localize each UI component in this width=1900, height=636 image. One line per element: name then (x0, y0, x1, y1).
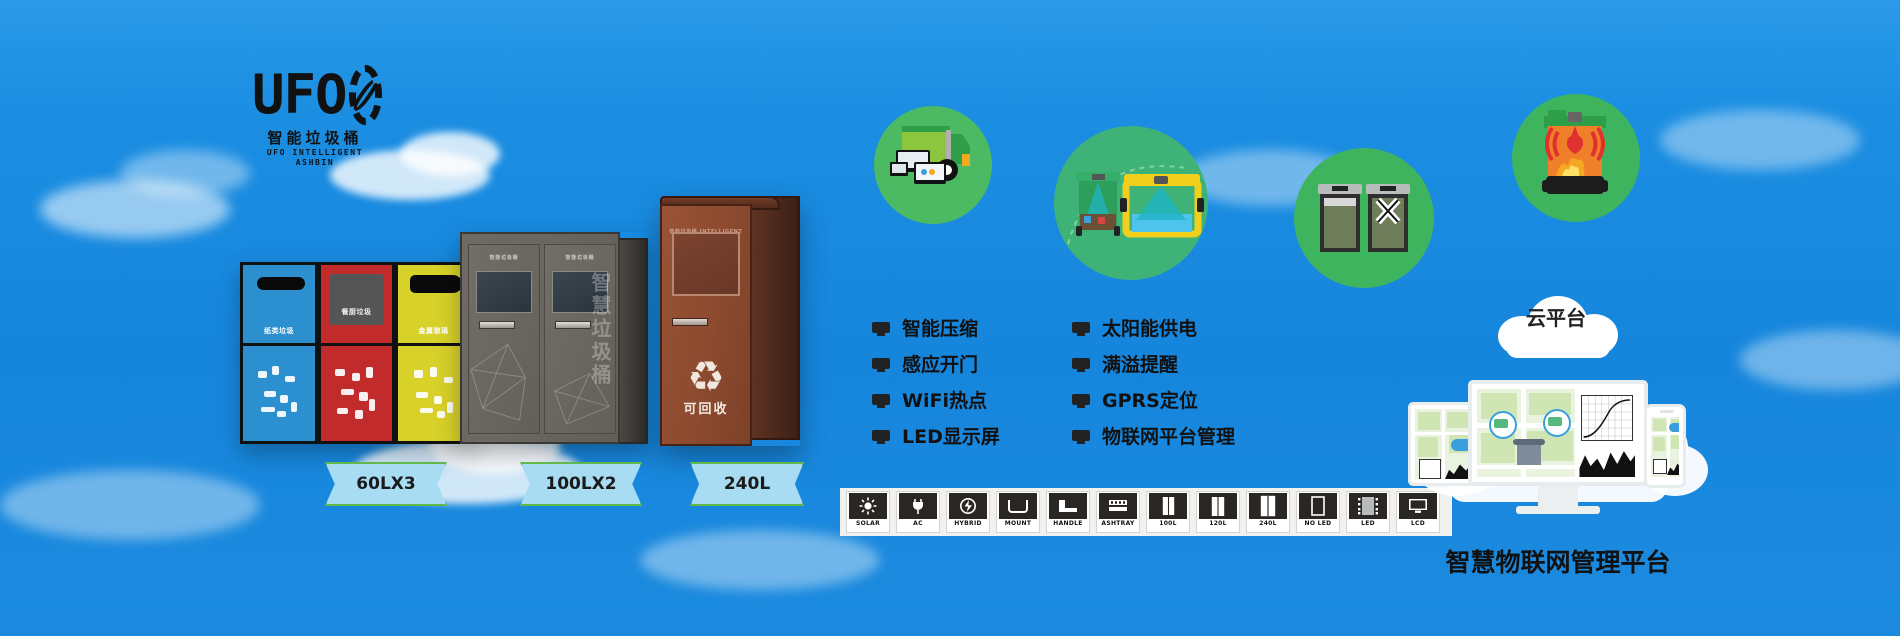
tablet-screen (1415, 409, 1473, 479)
brand-logo: UFO 智能垃圾桶 UFO INTELLIGENT ASHBIN (252, 62, 382, 162)
logo-wordmark: UFO (252, 68, 347, 122)
spec-chip-handle[interactable]: HANDLE (1046, 491, 1090, 533)
smartphone-device (1644, 404, 1686, 488)
recycle-label: 可回收 (662, 402, 750, 418)
spec-chip-hybrid[interactable]: HYBRID (946, 491, 990, 533)
capacity-ribbon-100lx2: 100LX2 (520, 462, 642, 506)
compartment-label: 餐厨垃圾 (321, 308, 392, 317)
feature-label: 智能压缩 (902, 318, 978, 340)
spec-caption: ASHTRAY (1101, 519, 1134, 529)
led-icon (1349, 493, 1387, 519)
cloud-platform-badge: 云平台 (1486, 292, 1626, 356)
bin-100l-icon (1149, 493, 1187, 519)
product-bin-60lx3: 纸类垃圾 餐厨垃圾 (240, 262, 472, 444)
feature-list: 智能压缩 太阳能供电 感应开门 满溢提醒 WiFi热点 GPRS定位 LED显示… (872, 318, 1302, 448)
monitor-icon (872, 322, 890, 336)
phone-screen (1651, 417, 1679, 477)
spec-caption: SOLAR (856, 519, 880, 529)
feature-label: WiFi热点 (902, 390, 987, 412)
bin-240l-icon (1249, 493, 1287, 519)
spec-chip-100l[interactable]: 100L (1146, 491, 1190, 533)
spec-chip-no-led[interactable]: NO LED (1296, 491, 1340, 533)
monitor-icon (1072, 430, 1090, 444)
feature-item: LED显示屏 (872, 426, 1072, 448)
spec-chip-led[interactable]: LED (1346, 491, 1390, 533)
logo-cn-name: 智能垃圾桶 (252, 130, 378, 147)
bin-120l-icon (1199, 493, 1237, 519)
feature-label: 太阳能供电 (1102, 318, 1197, 340)
sun-icon (849, 493, 887, 519)
bin-side-text: 智慧垃圾桶 (591, 272, 613, 387)
fire-alarm-icon (1512, 94, 1640, 222)
feature-label: LED显示屏 (902, 426, 1000, 448)
spec-caption: 240L (1259, 519, 1277, 529)
mount-icon (999, 493, 1037, 519)
platform-title: 智慧物联网管理平台 (1358, 548, 1758, 578)
bin-screen-caption: 智能垃圾桶 (545, 255, 615, 262)
spec-caption: LED (1361, 519, 1375, 529)
ribbon-label: 60LX3 (356, 474, 415, 494)
feature-item: WiFi热点 (872, 390, 1072, 412)
feature-item: 满溢提醒 (1072, 354, 1302, 376)
monitor-screen (1477, 389, 1639, 477)
monitor-icon (1072, 394, 1090, 408)
feature-label: 物联网平台管理 (1102, 426, 1235, 448)
feature-circle-fire-alarm (1512, 94, 1640, 222)
spec-caption: 120L (1209, 519, 1227, 529)
spec-icon-strip: SOLAR AC HYBRID MOUNT HAND (840, 488, 1452, 536)
ribbon-label: 100LX2 (545, 474, 616, 494)
banner-stage: UFO 智能垃圾桶 UFO INTELLIGENT ASHBIN 纸类垃圾 (0, 0, 1900, 636)
monitor-icon (872, 430, 890, 444)
spec-chip-ac[interactable]: AC (896, 491, 940, 533)
bin-screen-caption: 智能垃圾桶 (469, 255, 539, 262)
cloud-decoration (0, 470, 260, 540)
cloud-decoration (400, 132, 500, 176)
cloud-decoration (120, 150, 250, 196)
monitor-base (1516, 506, 1600, 514)
feature-item: 感应开门 (872, 354, 1072, 376)
compartment-label: 纸类垃圾 (243, 327, 315, 336)
spec-caption: HANDLE (1053, 519, 1082, 529)
line-chart-icon (1582, 396, 1632, 440)
capacity-ribbon-240l: 240L (690, 462, 804, 506)
cloud-label: 云平台 (1486, 306, 1626, 330)
feature-item: 物联网平台管理 (1072, 426, 1302, 448)
plug-icon (899, 493, 937, 519)
product-bin-100lx2: 智能垃圾桶 智能垃圾桶 智慧垃圾桶 (460, 232, 648, 444)
feature-label: 感应开门 (902, 354, 978, 376)
compartment-label: 金属玻璃 (398, 327, 469, 336)
feature-circle-compaction (1294, 148, 1434, 288)
no-led-icon (1299, 493, 1337, 519)
iot-platform-illustration: 云平台 (1408, 292, 1708, 522)
handle-icon (1049, 493, 1087, 519)
spec-caption: NO LED (1305, 519, 1332, 529)
spec-chip-solar[interactable]: SOLAR (846, 491, 890, 533)
gear-ring-icon (349, 65, 382, 125)
ashtray-icon (1099, 493, 1137, 519)
feature-label: 满溢提醒 (1102, 354, 1178, 376)
feature-item: 智能压缩 (872, 318, 1072, 340)
truck-monitoring-icon (874, 106, 992, 224)
monitor-icon (872, 358, 890, 372)
feature-circle-truck-monitoring (874, 106, 992, 224)
feature-circle-fill-sensor (1054, 126, 1208, 280)
recycle-symbol-icon: ♻ (662, 356, 750, 398)
spec-chip-120l[interactable]: 120L (1196, 491, 1240, 533)
feature-item: GPRS定位 (1072, 390, 1302, 412)
logo-mark: UFO (252, 62, 382, 128)
cloud-decoration (1740, 330, 1900, 390)
monitor-stand (1538, 486, 1578, 508)
polygon-graphic (469, 320, 539, 433)
spec-caption: HYBRID (954, 519, 982, 529)
feature-label: GPRS定位 (1102, 390, 1198, 412)
product-bin-240l: 智能垃圾桶 INTELLIGENT ASHBIN ♻ 可回收 (660, 196, 800, 446)
cloud-decoration (640, 530, 880, 590)
monitor-icon (1072, 322, 1090, 336)
ribbon-label: 240L (724, 474, 770, 494)
spec-chip-240l[interactable]: 240L (1246, 491, 1290, 533)
hybrid-bolt-icon (949, 493, 987, 519)
feature-item: 太阳能供电 (1072, 318, 1302, 340)
monitor-icon (1072, 358, 1090, 372)
compaction-bins-icon (1294, 148, 1434, 288)
desktop-monitor (1468, 380, 1648, 486)
spec-caption: AC (913, 519, 923, 529)
fill-level-sensor-icon (1054, 126, 1208, 280)
capacity-ribbon-60lx3: 60LX3 (325, 462, 447, 506)
logo-en-name: UFO INTELLIGENT ASHBIN (252, 148, 378, 168)
spec-chip-ashtray[interactable]: ASHTRAY (1096, 491, 1140, 533)
monitor-icon (872, 394, 890, 408)
spec-chip-mount[interactable]: MOUNT (996, 491, 1040, 533)
spec-caption: MOUNT (1005, 519, 1032, 529)
cloud-decoration (1660, 110, 1860, 170)
spec-caption: 100L (1159, 519, 1177, 529)
